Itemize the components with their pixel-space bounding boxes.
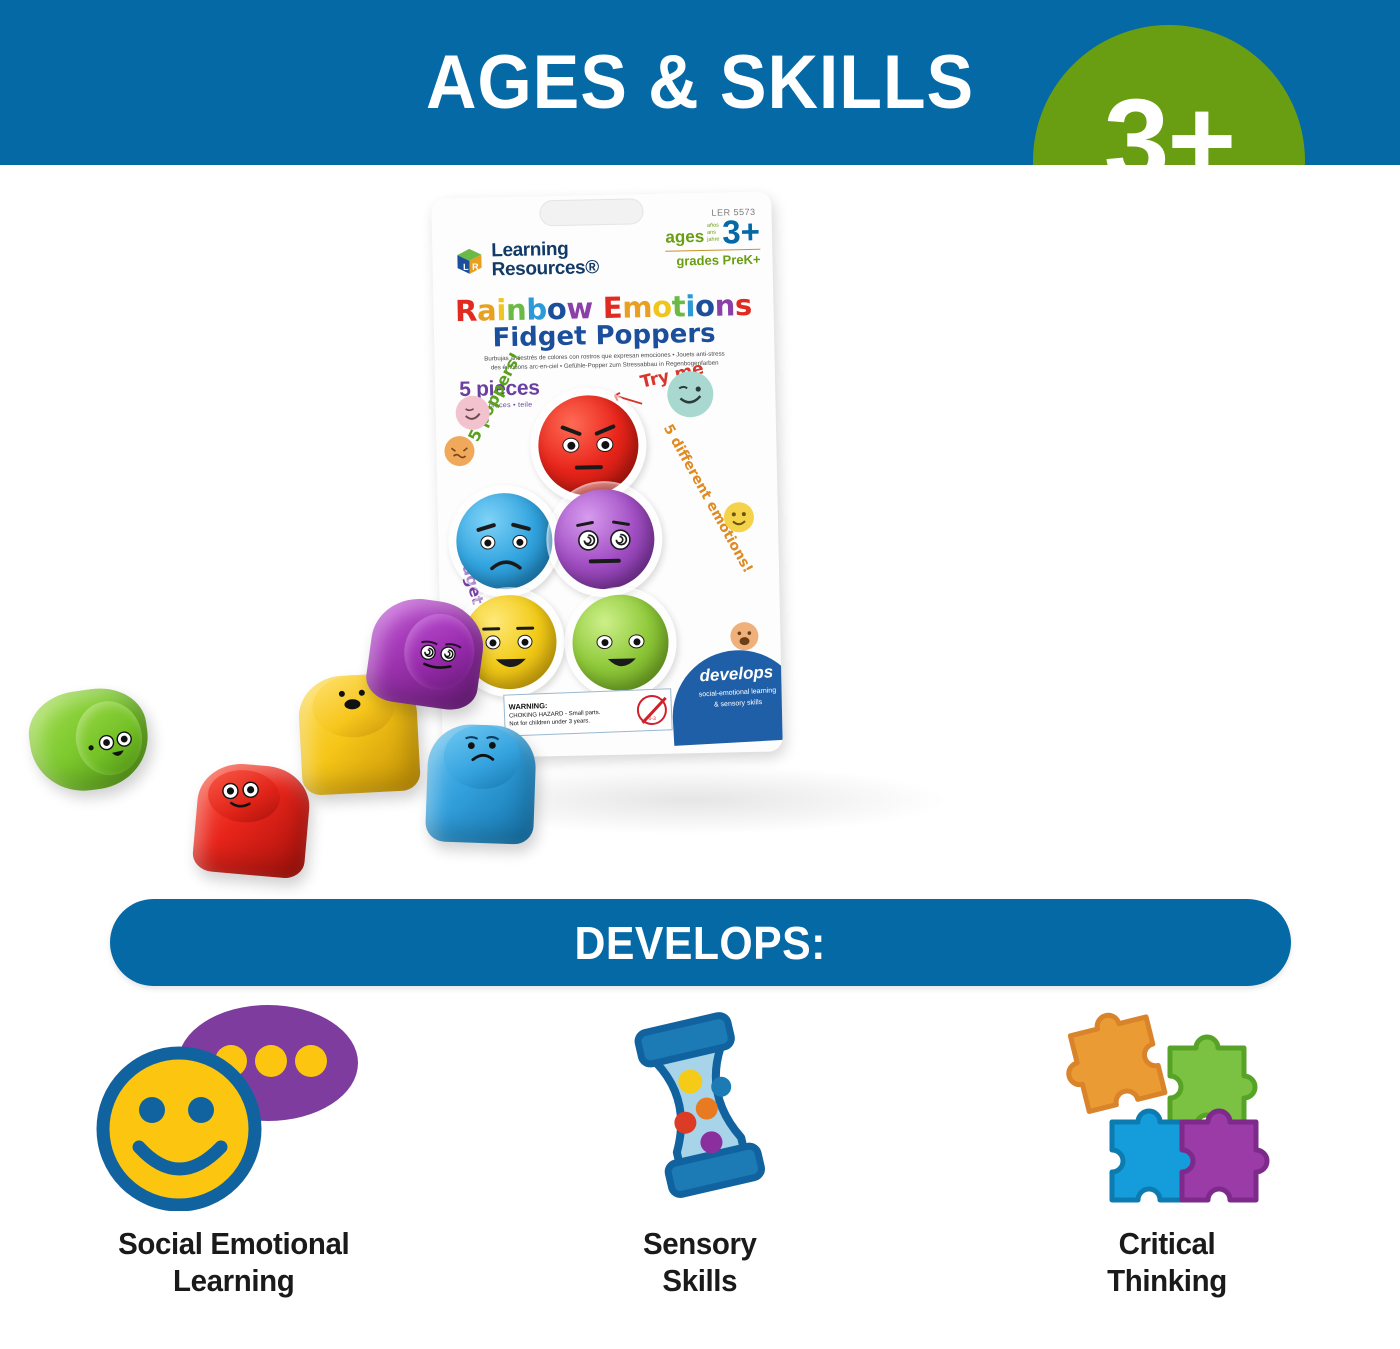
green-loose-popper [24, 682, 155, 797]
green-happy-popper [572, 594, 670, 692]
teal-mini-emoji [667, 371, 714, 418]
package-hang-tab [539, 198, 644, 226]
package-grades: grades PreK+ [666, 249, 761, 269]
pink-mini-emoji [455, 395, 490, 430]
yellow-mini-emoji [724, 502, 755, 533]
skill-social-emotional-learning: Social Emotional Learning [0, 1000, 467, 1340]
warning-heading: WARNING: [509, 701, 548, 711]
brand-name-line2: Resources® [491, 259, 599, 281]
red-angry-popper [537, 394, 639, 496]
no-children-under-3-icon: 0-3 [636, 694, 667, 725]
package-develops-badge: develops social-emotional learning & sen… [669, 647, 783, 746]
product-photo-area: L R Learning Resources® LER 5573 ages añ… [0, 165, 1400, 885]
warning-body: CHOKING HAZARD - Small parts. Not for ch… [509, 708, 634, 729]
svg-text:L: L [463, 262, 469, 272]
brand-name: Learning Resources® [491, 239, 599, 280]
learning-resources-cube-icon: L R [454, 246, 485, 277]
develops-banner-label: DEVELOPS: [575, 916, 826, 970]
smiley-speech-bubble-icon [83, 1000, 383, 1212]
package-ages-translations: años ans jahre [707, 223, 720, 247]
orange-mini-emoji [444, 436, 475, 467]
product-package: L R Learning Resources® LER 5573 ages añ… [431, 192, 783, 759]
red-loose-popper [191, 760, 312, 879]
package-ages-number: 3+ [722, 218, 760, 247]
skill-label-sensory-skills: Sensory Skills [643, 1226, 757, 1299]
brand-logo: L R Learning Resources® [454, 239, 599, 281]
develops-banner: DEVELOPS: [110, 899, 1291, 986]
blue-loose-popper [425, 723, 537, 845]
purple-loose-popper [363, 593, 489, 714]
svg-text:R: R [472, 262, 479, 272]
package-develops-title: develops [670, 661, 783, 688]
purple-dizzy-popper [553, 488, 655, 590]
package-product-subtitle: Fidget Poppers [434, 317, 775, 354]
skill-label-critical-thinking: Critical Thinking [1107, 1226, 1227, 1299]
package-emotions-callout: 5 different emotions! [660, 422, 756, 576]
skills-row: Social Emotional Learning [0, 1000, 1400, 1340]
blue-sad-popper [455, 492, 553, 590]
puzzle-pieces-icon [1052, 1000, 1282, 1212]
skill-label-social-emotional-learning: Social Emotional Learning [118, 1226, 349, 1299]
skill-critical-thinking: Critical Thinking [933, 1000, 1400, 1340]
no-kid-age-range: 0-3 [639, 715, 665, 722]
infographic-page: AGES & SKILLS 3+ years L R [0, 0, 1400, 1349]
package-develops-subtitle: social-emotional learning & sensory skil… [671, 685, 783, 713]
sensory-tube-icon [605, 1000, 795, 1212]
skill-sensory-skills: Sensory Skills [467, 1000, 934, 1340]
peach-mini-emoji [730, 622, 759, 651]
package-ages-label: ages [665, 227, 704, 248]
warning-text: WARNING: CHOKING HAZARD - Small parts. N… [509, 698, 634, 729]
package-age-block: ages años ans jahre 3+ grades PreK+ [665, 218, 761, 269]
